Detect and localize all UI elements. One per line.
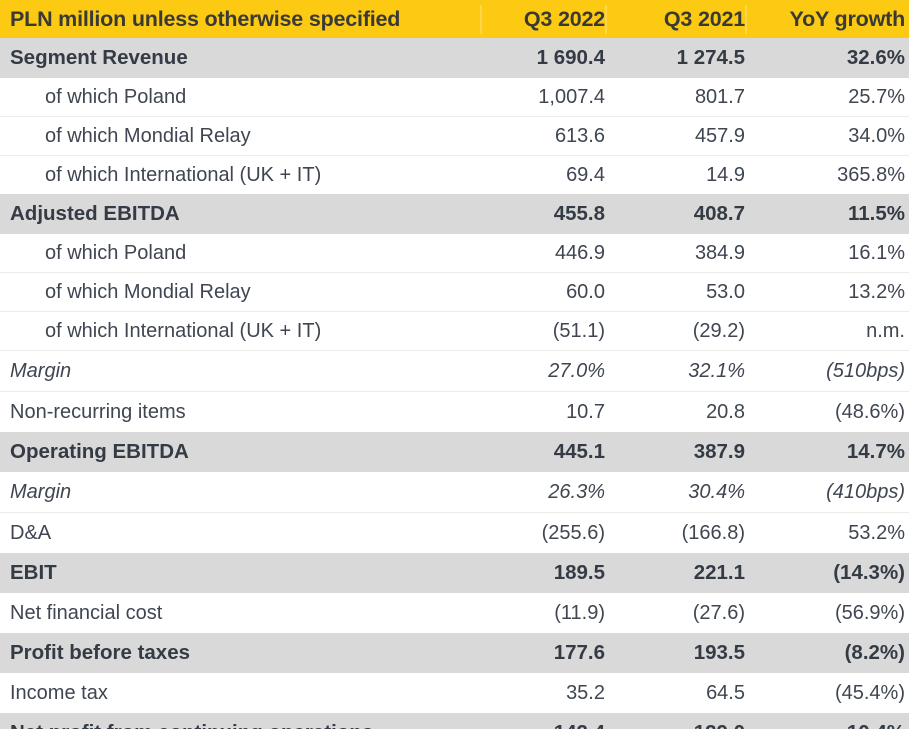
row-value-q3-2022: 142.4 [480,721,605,729]
row-value-q3-2021: 408.7 [605,202,745,226]
table-row: Income tax35.264.5(45.4%) [0,673,909,713]
row-value-q3-2022: 1,007.4 [480,86,605,109]
row-value-q3-2021: 1 274.5 [605,46,745,70]
table-row: D&A(255.6)(166.8)53.2% [0,513,909,553]
row-label: of which Poland [0,86,480,109]
row-label: of which International (UK + IT) [0,320,480,343]
row-value-q3-2022: 1 690.4 [480,46,605,70]
table-header-row: PLN million unless otherwise specified Q… [0,0,909,38]
row-value-q3-2022: 10.7 [480,401,605,424]
row-value-yoy-growth: n.m. [745,320,909,343]
table-row-total: Net profit from continuing operations142… [0,713,909,729]
row-value-q3-2022: 60.0 [480,281,605,304]
table-row: of which Poland446.9384.916.1% [0,234,909,272]
table-row: of which Mondial Relay60.053.013.2% [0,273,909,311]
row-value-q3-2021: 32.1% [605,360,745,383]
row-value-yoy-growth: 10.4% [745,721,909,729]
table-row-total: Profit before taxes177.6193.5(8.2%) [0,633,909,673]
row-value-q3-2021: 30.4% [605,481,745,504]
row-value-q3-2021: 801.7 [605,86,745,109]
row-value-q3-2021: (29.2) [605,320,745,343]
row-value-q3-2021: 53.0 [605,281,745,304]
row-value-yoy-growth: 14.7% [745,440,909,464]
row-value-yoy-growth: (14.3%) [745,561,909,585]
row-value-yoy-growth: 53.2% [745,522,909,545]
row-value-yoy-growth: 25.7% [745,86,909,109]
row-label: Margin [0,360,480,383]
table-row-total: Operating EBITDA445.1387.914.7% [0,432,909,472]
row-value-q3-2022: 177.6 [480,641,605,665]
table-row: of which International (UK + IT)(51.1)(2… [0,312,909,350]
row-label: EBIT [0,561,480,585]
table-row: of which Poland1,007.4801.725.7% [0,78,909,116]
row-value-q3-2021: 20.8 [605,401,745,424]
financial-results-table: PLN million unless otherwise specified Q… [0,0,909,729]
row-value-q3-2022: 445.1 [480,440,605,464]
row-value-q3-2022: 69.4 [480,164,605,187]
row-label: Adjusted EBITDA [0,202,480,226]
row-value-q3-2022: 27.0% [480,360,605,383]
row-value-yoy-growth: (56.9%) [745,602,909,625]
row-value-q3-2021: 457.9 [605,125,745,148]
row-value-q3-2021: 64.5 [605,682,745,705]
row-label: of which Mondial Relay [0,281,480,304]
row-label: Non-recurring items [0,401,480,424]
row-value-yoy-growth: (45.4%) [745,682,909,705]
row-value-yoy-growth: 11.5% [745,202,909,226]
row-value-yoy-growth: 34.0% [745,125,909,148]
row-value-yoy-growth: (8.2%) [745,641,909,665]
row-value-q3-2021: 14.9 [605,164,745,187]
row-label: of which Poland [0,242,480,265]
row-label: Segment Revenue [0,46,480,70]
table-row: Net financial cost(11.9)(27.6)(56.9%) [0,593,909,633]
row-value-q3-2022: 613.6 [480,125,605,148]
row-value-yoy-growth: (48.6%) [745,401,909,424]
header-cell-q3-2022: Q3 2022 [480,7,605,32]
row-label: D&A [0,522,480,545]
table-row: Non-recurring items10.720.8(48.6%) [0,392,909,432]
row-value-q3-2022: 455.8 [480,202,605,226]
row-value-q3-2021: 221.1 [605,561,745,585]
row-label: Net financial cost [0,602,480,625]
row-value-q3-2022: 446.9 [480,242,605,265]
header-cell-description: PLN million unless otherwise specified [0,7,480,32]
table-row: of which International (UK + IT)69.414.9… [0,156,909,194]
row-label: Operating EBITDA [0,440,480,464]
header-cell-q3-2021: Q3 2021 [605,7,745,32]
row-value-q3-2021: 193.5 [605,641,745,665]
table-row-total: Segment Revenue1 690.41 274.532.6% [0,38,909,78]
row-label: of which International (UK + IT) [0,164,480,187]
table-row: Margin26.3%30.4%(410bps) [0,472,909,512]
row-value-q3-2021: 387.9 [605,440,745,464]
row-value-yoy-growth: (510bps) [745,360,909,383]
table-row: Margin27.0%32.1%(510bps) [0,351,909,391]
row-value-q3-2022: 35.2 [480,682,605,705]
table-row-total: Adjusted EBITDA455.8408.711.5% [0,194,909,234]
row-value-q3-2022: (11.9) [480,602,605,625]
row-value-yoy-growth: (410bps) [745,481,909,504]
header-cell-yoy-growth: YoY growth [745,7,909,32]
row-value-q3-2022: 26.3% [480,481,605,504]
table-row: of which Mondial Relay613.6457.934.0% [0,117,909,155]
row-label: Margin [0,481,480,504]
row-value-q3-2022: 189.5 [480,561,605,585]
table-body: Segment Revenue1 690.41 274.532.6%of whi… [0,38,909,729]
table-row-total: EBIT189.5221.1(14.3%) [0,553,909,593]
row-value-q3-2022: (255.6) [480,522,605,545]
row-value-yoy-growth: 16.1% [745,242,909,265]
row-label: Profit before taxes [0,641,480,665]
row-value-yoy-growth: 13.2% [745,281,909,304]
row-value-yoy-growth: 365.8% [745,164,909,187]
row-value-q3-2021: 129.0 [605,721,745,729]
row-value-q3-2022: (51.1) [480,320,605,343]
row-value-q3-2021: (166.8) [605,522,745,545]
row-label: Income tax [0,682,480,705]
row-value-yoy-growth: 32.6% [745,46,909,70]
row-label: Net profit from continuing operations [0,721,480,729]
row-label: of which Mondial Relay [0,125,480,148]
row-value-q3-2021: (27.6) [605,602,745,625]
row-value-q3-2021: 384.9 [605,242,745,265]
